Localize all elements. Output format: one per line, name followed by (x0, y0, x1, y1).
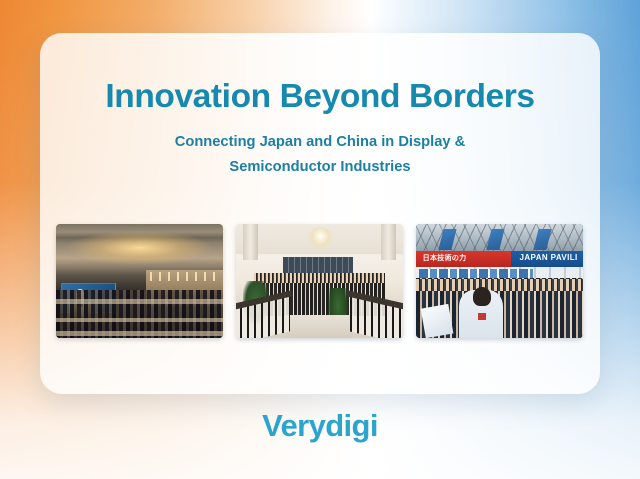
banner-english-text: JAPAN PAVILI (520, 253, 578, 262)
content-card: Innovation Beyond Borders Connecting Jap… (40, 33, 600, 394)
photo-gallery: 日本技術の力 JAPAN PAVILI (56, 224, 584, 338)
trade-show-crowd-heads (416, 279, 583, 292)
lobby-column-right (381, 224, 396, 260)
photo-trade-show: 日本技術の力 JAPAN PAVILI (416, 224, 583, 338)
slide-subtitle: Connecting Japan and China in Display & … (120, 130, 520, 181)
presentation-slide: Innovation Beyond Borders Connecting Jap… (0, 0, 640, 479)
wall-lights (150, 272, 220, 281)
photo-conference-hall (56, 224, 223, 338)
lobby-column-left (243, 224, 258, 260)
held-brochure (420, 304, 453, 338)
table-row (56, 299, 223, 304)
table-row (56, 331, 223, 336)
table-row (56, 318, 223, 323)
photo-group-lobby (236, 224, 403, 338)
foreground-visitor-head (473, 287, 491, 306)
banner-japanese-text: 日本技術の力 (423, 253, 467, 263)
page-title: Innovation Beyond Borders (40, 78, 600, 116)
group-crowd-heads (254, 273, 384, 283)
lobby-floor (286, 315, 353, 338)
badge-lanyard (478, 313, 486, 320)
chandelier (308, 227, 333, 250)
brand-logo: Verydigi (0, 408, 640, 444)
